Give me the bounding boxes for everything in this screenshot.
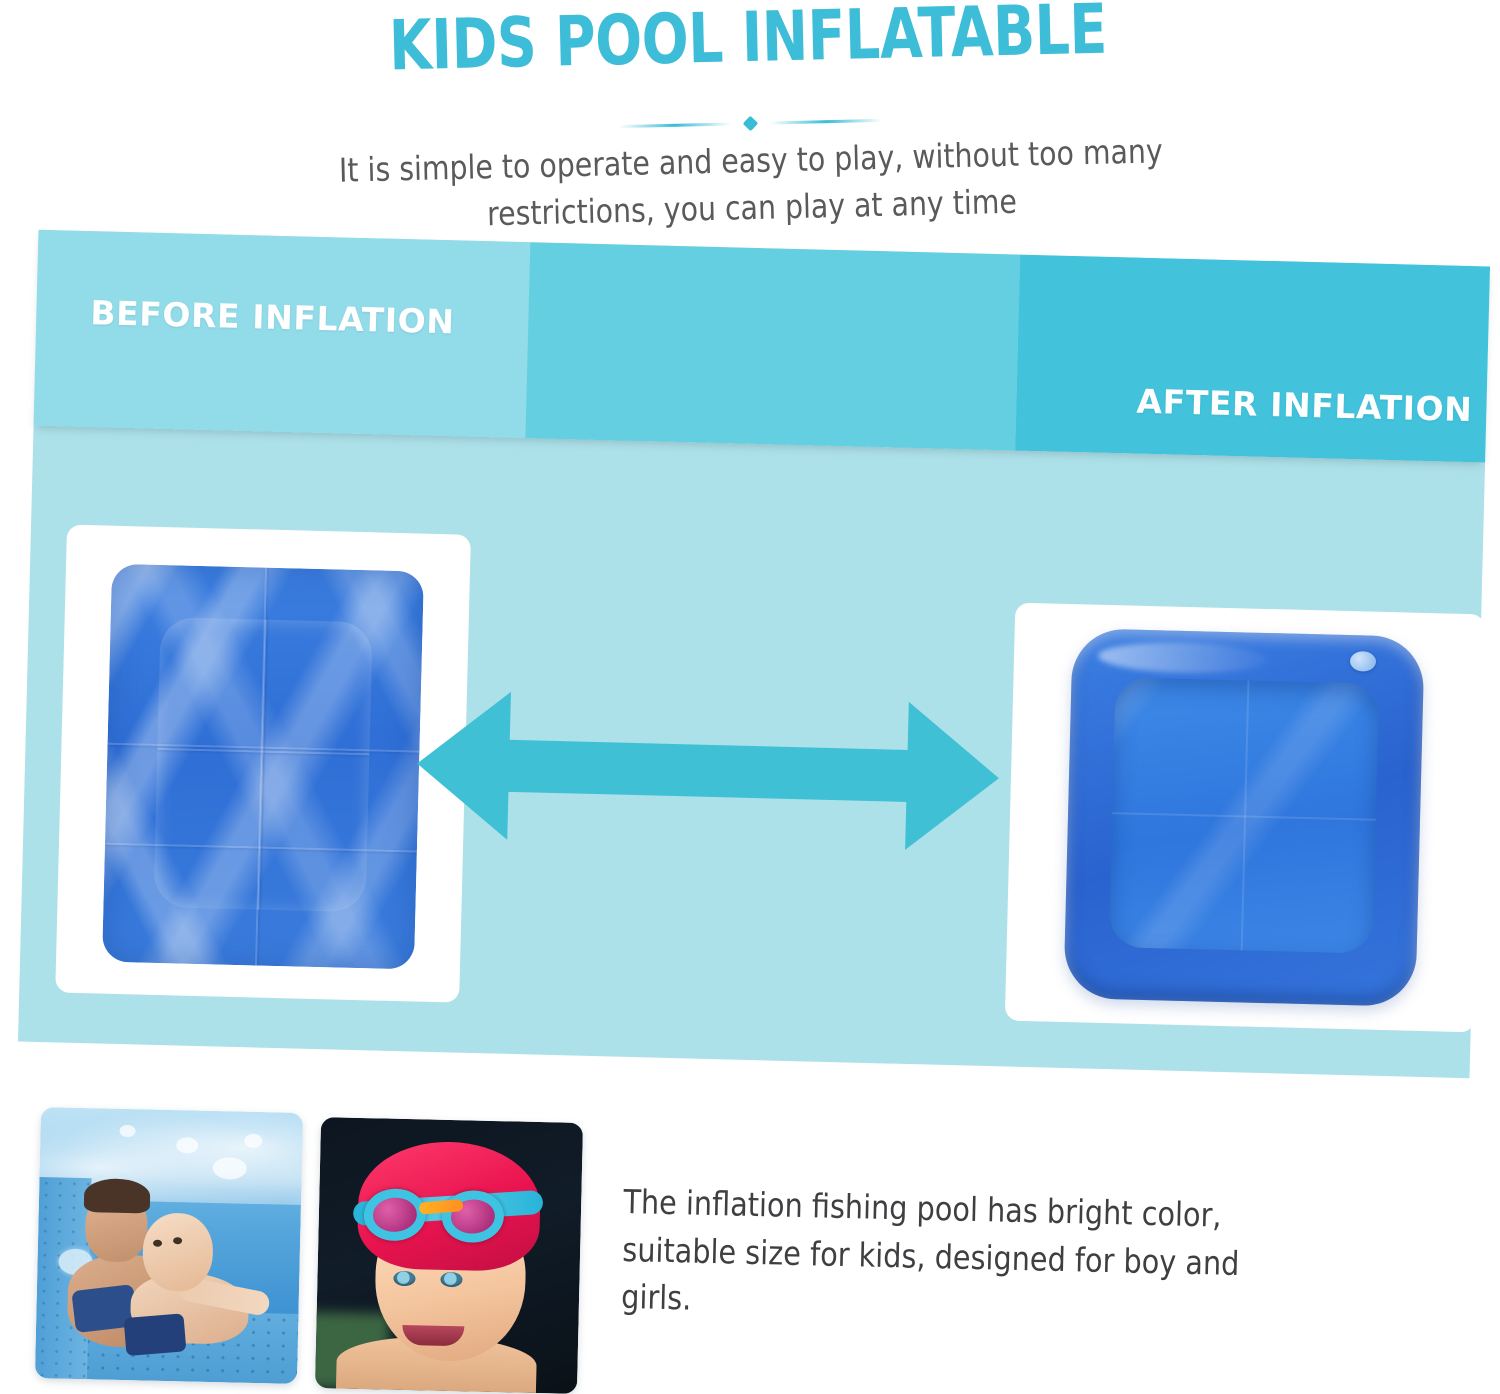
kid-eye bbox=[393, 1270, 415, 1285]
kid-eye bbox=[440, 1272, 462, 1287]
deflated-pool-inner-panel bbox=[153, 617, 372, 912]
baby-trunks bbox=[124, 1313, 187, 1356]
arrow-head-right-icon bbox=[905, 702, 1001, 852]
inflated-pool-image bbox=[1063, 628, 1424, 1007]
baby-head bbox=[142, 1212, 214, 1292]
header: KIDS POOL INFLATABLE It is simple to ope… bbox=[0, 0, 1500, 268]
inflated-pool-card bbox=[1005, 603, 1485, 1033]
air-valve-icon bbox=[1350, 651, 1376, 672]
toddler-swim-cap-goggles-photo bbox=[315, 1117, 583, 1394]
comparison-banner: BEFORE INFLATION AFTER INFLATION bbox=[34, 230, 1490, 463]
underwater-father-and-baby-photo bbox=[35, 1107, 303, 1384]
comparison-panel: BEFORE INFLATION AFTER INFLATION bbox=[18, 230, 1490, 1078]
double-headed-arrow-icon bbox=[415, 690, 1001, 853]
kid-scene bbox=[315, 1117, 583, 1394]
divider-bar-right bbox=[769, 118, 881, 124]
banner-band-medium bbox=[525, 242, 1020, 450]
arrow-head-left-icon bbox=[415, 690, 511, 840]
divider-diamond-icon bbox=[742, 115, 758, 131]
fold-line bbox=[157, 747, 369, 754]
adult-hair bbox=[83, 1179, 150, 1214]
deflated-pool-image bbox=[102, 564, 424, 970]
bubble bbox=[119, 1125, 135, 1137]
comparison-panel-background: BEFORE INFLATION AFTER INFLATION bbox=[18, 230, 1490, 1078]
page-title: KIDS POOL INFLATABLE bbox=[147, 0, 1348, 87]
pool-scene bbox=[35, 1107, 303, 1384]
footer: The inflation fishing pool has bright co… bbox=[0, 1092, 1500, 1389]
banner-band-dark bbox=[1015, 255, 1490, 463]
footer-description: The inflation fishing pool has bright co… bbox=[621, 1178, 1268, 1335]
page-subtitle: It is simple to operate and easy to play… bbox=[320, 128, 1182, 242]
inflated-pool-floor bbox=[1109, 677, 1380, 954]
arrow-shaft bbox=[506, 740, 909, 802]
divider-bar-left bbox=[618, 122, 730, 128]
product-infographic: KIDS POOL INFLATABLE It is simple to ope… bbox=[0, 0, 1500, 1389]
bubble bbox=[245, 1133, 263, 1147]
deflated-pool-card bbox=[55, 525, 471, 1003]
fold-line bbox=[257, 620, 266, 910]
